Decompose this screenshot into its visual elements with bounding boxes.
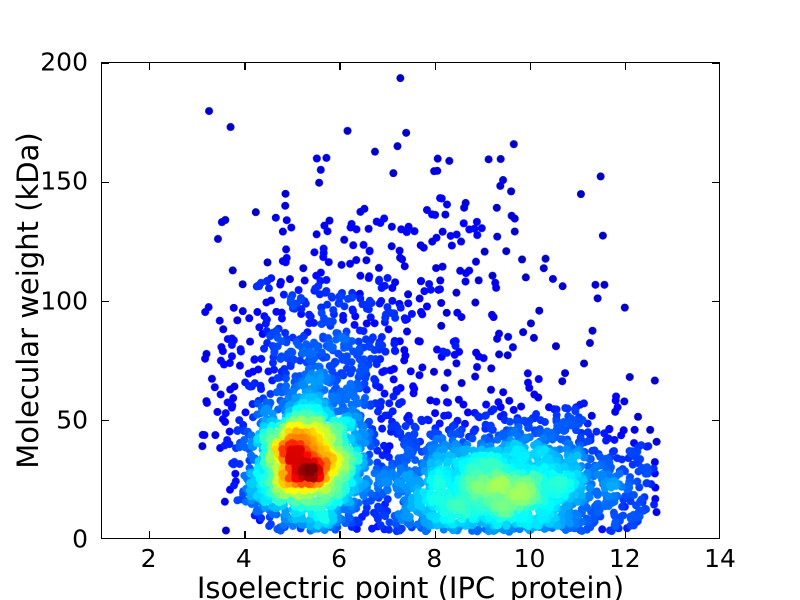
x-tick-6: [339, 63, 340, 70]
x-tick-label-4: 4: [236, 546, 252, 571]
x-tick-label-10: 10: [514, 546, 546, 571]
x-tick-4: [244, 63, 245, 70]
x-tick-10: [530, 63, 531, 70]
x-tick-4: [244, 531, 245, 538]
x-tick-10: [530, 531, 531, 538]
plot-area: [101, 62, 720, 539]
x-tick-label-14: 14: [704, 546, 736, 571]
x-tick-8: [435, 63, 436, 70]
x-tick-label-2: 2: [141, 546, 157, 571]
y-tick-100: [712, 301, 719, 302]
x-tick-12: [625, 531, 626, 538]
y-tick-50: [102, 420, 109, 421]
x-axis-label: Isoelectric point (IPC_protein): [101, 571, 720, 600]
y-axis-label: Molecular weight (kDa): [8, 62, 48, 539]
y-tick-200: [102, 62, 109, 63]
x-tick-6: [339, 531, 340, 538]
y-tick-100: [102, 301, 109, 302]
y-tick-label-0: 0: [72, 527, 88, 552]
x-tick-12: [625, 63, 626, 70]
y-tick-label-50: 50: [56, 407, 88, 432]
x-tick-2: [149, 531, 150, 538]
scatter-density-plot: [102, 63, 719, 538]
x-tick-2: [149, 63, 150, 70]
x-tick-label-12: 12: [609, 546, 641, 571]
y-tick-150: [712, 182, 719, 183]
y-tick-50: [712, 420, 719, 421]
x-tick-label-6: 6: [331, 546, 347, 571]
x-tick-8: [435, 531, 436, 538]
y-tick-150: [102, 182, 109, 183]
figure-canvas: 2468101214050100150200 Isoelectric point…: [0, 0, 800, 600]
y-tick-200: [712, 62, 719, 63]
x-tick-label-8: 8: [426, 546, 442, 571]
